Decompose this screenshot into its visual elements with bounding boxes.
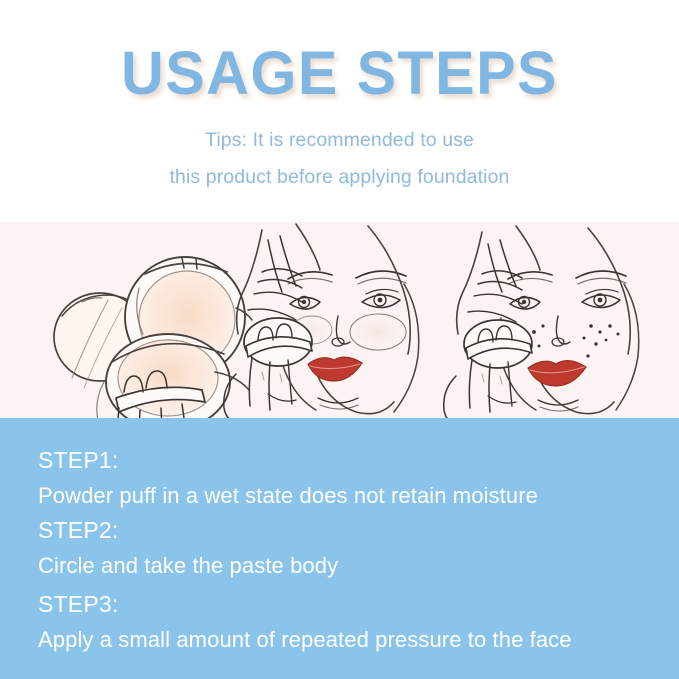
step-2-label: STEP2: — [38, 519, 668, 542]
step-group-1: STEP1: Powder puff in a wet state does n… — [38, 449, 668, 507]
usage-steps-infographic: USAGE STEPS Tips: It is recommended to u… — [0, 0, 679, 679]
step-1-text: Powder puff in a wet state does not reta… — [38, 485, 668, 507]
step-2-text: Circle and take the paste body — [38, 555, 668, 577]
illustration-svg — [0, 222, 679, 418]
step-1-label: STEP1: — [38, 449, 668, 472]
header-section: USAGE STEPS Tips: It is recommended to u… — [0, 0, 679, 222]
steps-band: STEP1: Powder puff in a wet state does n… — [0, 418, 679, 679]
illustration-band — [0, 222, 679, 418]
step-3-label: STEP3: — [38, 593, 668, 616]
step-group-3: STEP3: Apply a small amount of repeated … — [38, 593, 668, 651]
tips-line-2: this product before applying foundation — [0, 168, 679, 188]
step-3-text: Apply a small amount of repeated pressur… — [38, 629, 668, 651]
tips-line-1: Tips: It is recommended to use — [0, 131, 679, 151]
step-group-2: STEP2: Circle and take the paste body — [38, 519, 668, 577]
page-title: USAGE STEPS — [10, 41, 669, 105]
